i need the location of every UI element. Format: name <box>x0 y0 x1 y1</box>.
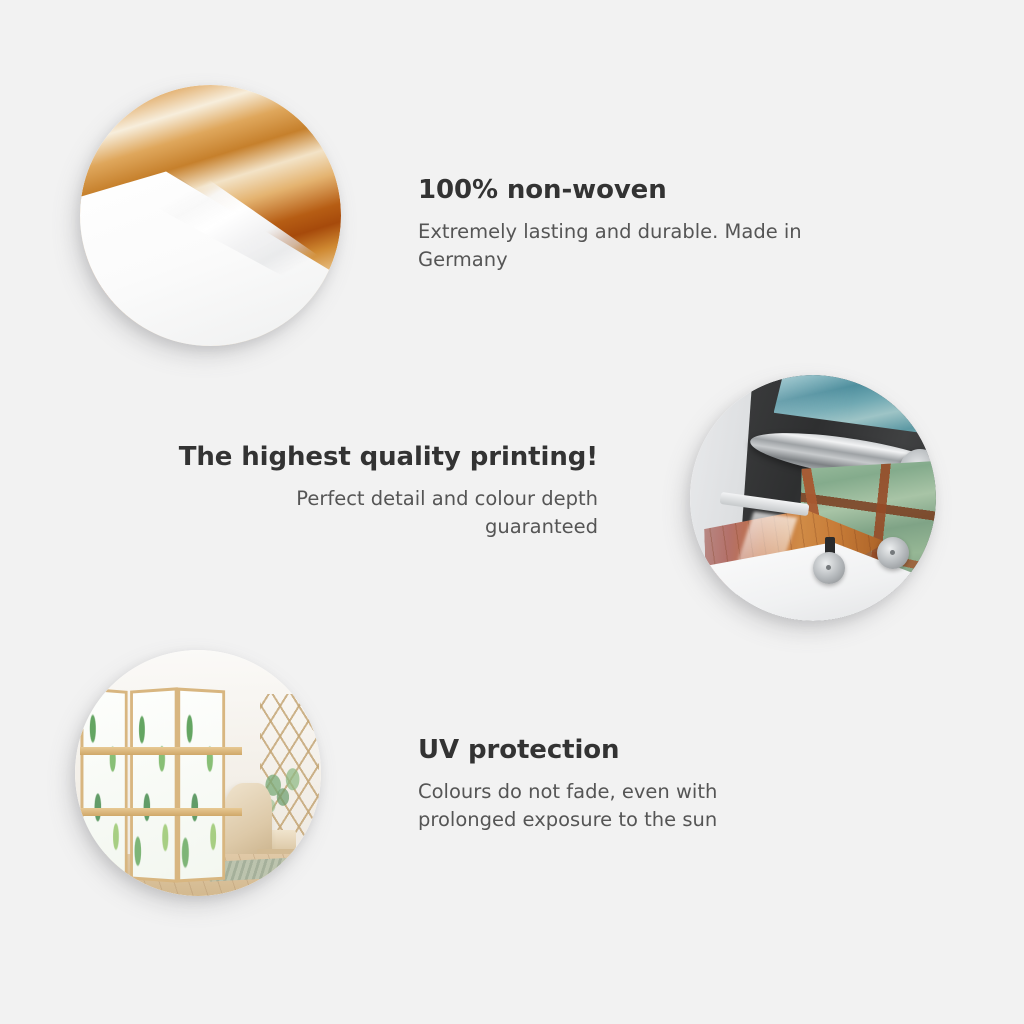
feature-image-uv-protection <box>75 650 321 896</box>
feature-body: Perfect detail and colour depth guarante… <box>178 485 598 540</box>
feature-collage: 100% non-woven Extremely lasting and dur… <box>0 0 1024 1024</box>
feature-text-uv-protection: UV protection Colours do not fade, even … <box>418 736 818 833</box>
screen-panel <box>80 687 127 883</box>
peel-notch <box>80 184 184 273</box>
feature-heading: 100% non-woven <box>418 176 858 206</box>
room-divider-illustration <box>75 650 321 896</box>
printing-machine-illustration <box>690 375 936 621</box>
screen-panel <box>177 688 225 883</box>
feature-body: Extremely lasting and durable. Made in G… <box>418 218 858 273</box>
feature-text-printing-quality: The highest quality printing! Perfect de… <box>178 443 598 540</box>
screen-panel <box>130 688 177 883</box>
feature-heading: The highest quality printing! <box>178 443 598 473</box>
folding-screen <box>80 689 242 881</box>
feature-image-printing-quality <box>690 375 936 621</box>
non-woven-wallpaper-illustration <box>80 85 341 346</box>
screen-cross-rail <box>80 747 242 755</box>
feature-body: Colours do not fade, even with prolonged… <box>418 778 818 833</box>
machine-knob <box>813 552 845 584</box>
screen-cross-rail <box>80 808 242 816</box>
feature-image-non-woven <box>80 85 341 346</box>
feature-heading: UV protection <box>418 736 818 766</box>
feature-text-non-woven: 100% non-woven Extremely lasting and dur… <box>418 176 858 273</box>
